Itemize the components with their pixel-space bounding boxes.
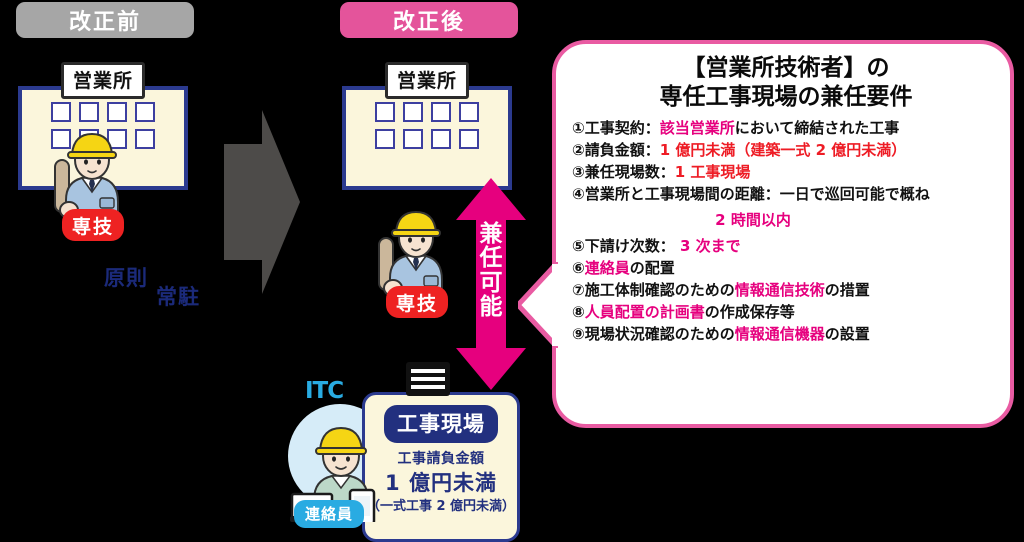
- requirement-text: において締結された工事: [735, 119, 900, 137]
- caption-resident: 常駐: [156, 281, 200, 311]
- office-window: [431, 129, 451, 149]
- sengi-badge-after: 専技: [386, 286, 448, 318]
- requirement-item: ⑨現場状況確認のための情報通信機器の設置: [572, 327, 1000, 342]
- requirement-item: ⑦施工体制確認のための情報通信技術の措置: [572, 283, 1000, 298]
- requirement-text: の措置: [825, 281, 870, 299]
- caption-principle: 原則: [104, 262, 148, 292]
- section-header-after: 改正後: [340, 2, 518, 38]
- requirement-number: ⑥: [572, 259, 585, 277]
- construction-site-title: 工事現場: [384, 405, 498, 443]
- itc-logo: ITC: [305, 378, 343, 404]
- requirement-text: 下請け次数：: [585, 237, 680, 255]
- requirement-subline: 2 時間以内: [572, 209, 1000, 230]
- office-window: [403, 129, 423, 149]
- requirement-highlight: 1 億円未満（建築一式 2 億円未満）: [660, 141, 907, 159]
- office-sign-label: 営業所: [61, 62, 145, 99]
- office-windows: [375, 102, 479, 149]
- requirement-highlight: 情報通信機器: [735, 325, 825, 343]
- requirement-text: の作成保存等: [705, 303, 795, 321]
- requirement-item: ④営業所と工事現場間の距離：一日で巡回可能で概ね: [572, 187, 1000, 202]
- requirement-text: 営業所と工事現場間の距離：一日で巡回可能で概ね: [585, 185, 930, 203]
- office-window: [375, 102, 395, 122]
- requirement-highlight: 1 工事現場: [675, 163, 751, 181]
- panel-content: 【営業所技術者】の 専任工事現場の兼任要件 ①工事契約：該当営業所において締結さ…: [552, 40, 1014, 428]
- requirement-highlight: 該当営業所: [660, 119, 735, 137]
- office-building-after: 営業所: [342, 62, 512, 190]
- office-window: [403, 102, 423, 122]
- requirement-text: 工事契約：: [585, 119, 660, 137]
- sengi-badge-before: 専技: [62, 209, 124, 241]
- requirement-item: ③兼任現場数：1 工事現場: [572, 165, 1000, 180]
- requirement-text: の設置: [825, 325, 870, 343]
- requirement-item: ⑧人員配置の計画書の作成保存等: [572, 305, 1000, 320]
- requirement-highlight: 連絡員: [585, 259, 630, 277]
- concurrent-duty-char: 能: [456, 295, 526, 319]
- clipboard-clip-icon: [406, 362, 450, 396]
- requirement-text: の配置: [630, 259, 675, 277]
- concurrent-duty-label: 兼 任 可 能: [456, 222, 526, 320]
- requirement-number: ⑨: [572, 325, 585, 343]
- panel-title: 【営業所技術者】の 専任工事現場の兼任要件: [572, 54, 1000, 112]
- office-window: [459, 102, 479, 122]
- panel-title-line1: 【営業所技術者】の: [572, 54, 1000, 83]
- office-window: [375, 129, 395, 149]
- requirement-highlight: 人員配置の計画書: [585, 303, 705, 321]
- office-window: [431, 102, 451, 122]
- requirements-list: ①工事契約：該当営業所において締結された工事②請負金額：1 億円未満（建築一式 …: [572, 121, 1000, 342]
- office-window: [79, 102, 99, 122]
- requirement-number: ①: [572, 119, 585, 137]
- office-window: [135, 102, 155, 122]
- requirement-number: ⑦: [572, 281, 585, 299]
- requirement-number: ④: [572, 185, 585, 203]
- requirements-panel: 【営業所技術者】の 専任工事現場の兼任要件 ①工事契約：該当営業所において締結さ…: [552, 40, 1014, 428]
- requirement-text: 兼任現場数：: [585, 163, 675, 181]
- panel-title-line2: 専任工事現場の兼任要件: [572, 83, 1000, 112]
- concurrent-duty-char: 兼: [456, 222, 526, 246]
- office-window: [51, 102, 71, 122]
- concurrent-duty-char: 可: [456, 271, 526, 295]
- requirement-item: ①工事契約：該当営業所において締結された工事: [572, 121, 1000, 136]
- requirement-highlight: 情報通信技術: [735, 281, 825, 299]
- section-header-before: 改正前: [16, 2, 194, 38]
- requirement-text: 施工体制確認のための: [585, 281, 735, 299]
- office-window: [107, 102, 127, 122]
- requirement-number: ⑤: [572, 237, 585, 255]
- diagram-canvas: 改正前 営業所: [0, 0, 1024, 536]
- concurrent-duty-char: 任: [456, 246, 526, 270]
- concurrent-duty-double-arrow-icon: 兼 任 可 能: [456, 178, 526, 390]
- requirement-item: ②請負金額：1 億円未満（建築一式 2 億円未満）: [572, 143, 1000, 158]
- office-sign-label: 営業所: [385, 62, 469, 99]
- requirement-item: ⑤下請け次数： 3 次まで: [572, 239, 1000, 254]
- requirement-item: ⑥連絡員の配置: [572, 261, 1000, 276]
- transition-arrow-icon: [224, 110, 300, 294]
- requirement-number: ②: [572, 141, 585, 159]
- requirement-text: 現場状況確認のための: [585, 325, 735, 343]
- requirement-number: ⑧: [572, 303, 585, 321]
- requirement-text: 請負金額：: [585, 141, 660, 159]
- requirement-highlight: 3 次まで: [680, 237, 741, 255]
- requirement-number: ③: [572, 163, 585, 181]
- office-window: [459, 129, 479, 149]
- liaison-badge: 連絡員: [294, 500, 364, 528]
